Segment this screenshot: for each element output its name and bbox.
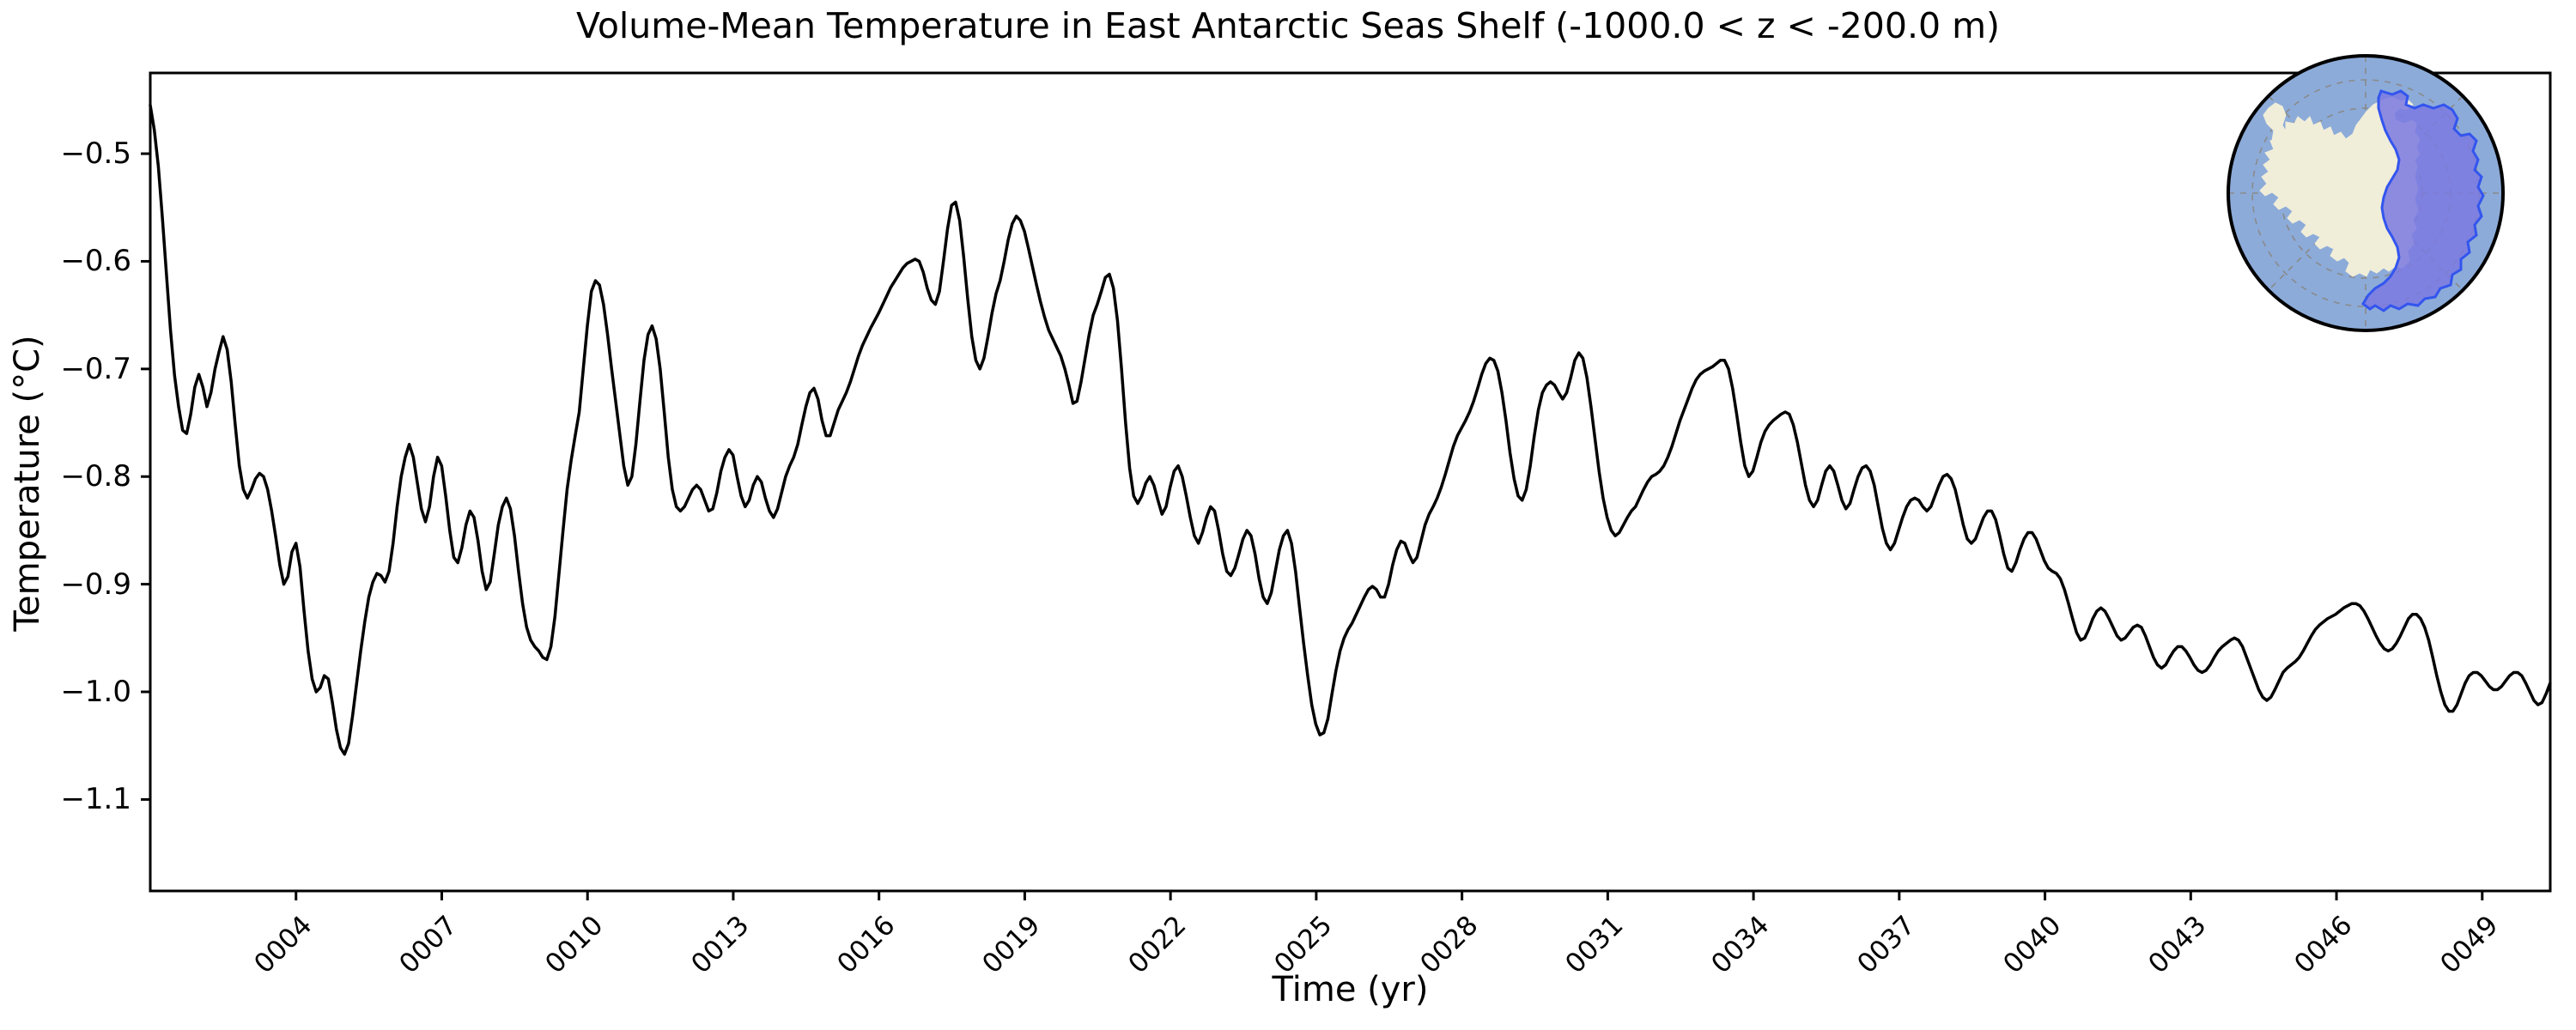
- figure-canvas: Volume-Mean Temperature in East Antarcti…: [0, 0, 2576, 1030]
- temperature-line: [150, 106, 2550, 754]
- y-axis-label: Temperature (°C): [8, 226, 47, 741]
- axes-border: [150, 73, 2550, 891]
- antarctica-polar-inset: [2224, 51, 2507, 335]
- data-series-group: [150, 106, 2550, 754]
- y-tick-label: −1.1: [0, 782, 131, 816]
- plot-area-svg: [0, 0, 2576, 1030]
- y-tick-label: −0.5: [0, 136, 131, 171]
- axes-frame: [150, 73, 2550, 891]
- tick-marks: [141, 154, 2482, 900]
- x-axis-label: Time (yr): [150, 970, 2550, 1009]
